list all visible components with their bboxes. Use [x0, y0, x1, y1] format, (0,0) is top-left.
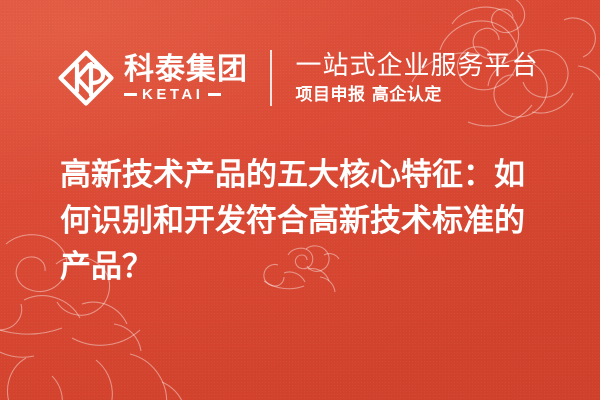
banner-header: 科泰集团 KETAI 一站式企业服务平台 项目申报 高企认定	[0, 36, 600, 120]
header-vertical-divider	[270, 50, 272, 106]
wordmark-rule-right	[208, 93, 221, 96]
promotional-banner: 科泰集团 KETAI 一站式企业服务平台 项目申报 高企认定 高新技术产品的五大…	[0, 0, 600, 400]
brand-name-en-row: KETAI	[124, 87, 248, 102]
brand-logo-lockup[interactable]: 科泰集团 KETAI	[58, 50, 248, 106]
ketai-diamond-kp-logo-icon	[58, 50, 114, 106]
brand-name-cn: 科泰集团	[124, 55, 248, 85]
wordmark-rule-left	[124, 93, 137, 96]
tagline-primary: 一站式企业服务平台	[296, 53, 539, 79]
banner-headline: 高新技术产品的五大核心特征：如何识别和开发符合高新技术标准的产品？	[60, 152, 552, 290]
tagline-secondary: 项目申报 高企认定	[296, 87, 539, 104]
brand-name-en: KETAI	[142, 87, 203, 102]
brand-wordmark: 科泰集团 KETAI	[124, 55, 248, 102]
tagline-block: 一站式企业服务平台 项目申报 高企认定	[296, 53, 539, 104]
